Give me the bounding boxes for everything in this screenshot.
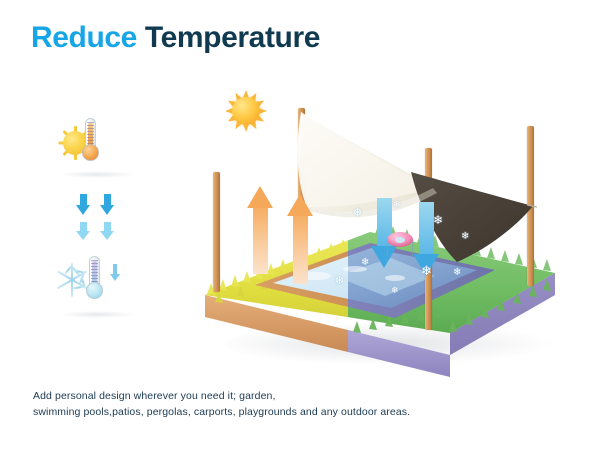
icon-sun-hot-thermometer <box>52 112 144 174</box>
snowflake-decoration: ❄ <box>353 208 362 219</box>
pool-float-ring <box>387 232 413 247</box>
shade-sail-pool-illustration: ❄ ❄ ❄ ❄ ❄ ❄ ❄ ❄ ❄ <box>185 80 585 380</box>
page-title: Reduce Temperature <box>31 21 320 54</box>
down-arrows-icon <box>70 194 126 246</box>
snowflake-decoration: ❄ <box>433 214 443 226</box>
caption-line-1: Add personal design wherever you need it… <box>33 388 533 404</box>
snowflake-icon <box>54 262 90 298</box>
page-title-accent: Reduce <box>31 21 137 54</box>
temperature-down-arrow-icon <box>110 264 120 281</box>
snowflake-decoration: ❄ <box>453 268 461 278</box>
slide-canvas: Reduce Temperature <box>0 0 600 450</box>
cold-thermometer-icon <box>86 256 103 298</box>
snowflake-decoration: ❄ <box>393 200 401 209</box>
icon-column <box>52 112 144 312</box>
icon-shadow <box>60 311 134 318</box>
snowflake-decoration: ❄ <box>361 258 369 268</box>
snowflake-decoration: ❄ <box>461 232 469 242</box>
heat-rising-arrow <box>287 194 313 284</box>
hot-thermometer-icon <box>82 118 99 160</box>
caption-text: Add personal design wherever you need it… <box>33 388 533 420</box>
icon-shadow <box>60 171 134 178</box>
page-title-main: Temperature <box>145 21 320 54</box>
heat-rising-arrow <box>247 186 273 274</box>
snowflake-decoration: ❄ <box>391 286 399 295</box>
snowflake-decoration: ❄ <box>421 264 432 277</box>
icon-snowflake-cold-thermometer <box>52 252 144 314</box>
caption-line-2: swimming pools,patios, pergolas, carport… <box>33 404 533 420</box>
snowflake-decoration: ❄ <box>335 276 344 287</box>
icon-cooling-arrows <box>52 188 144 250</box>
